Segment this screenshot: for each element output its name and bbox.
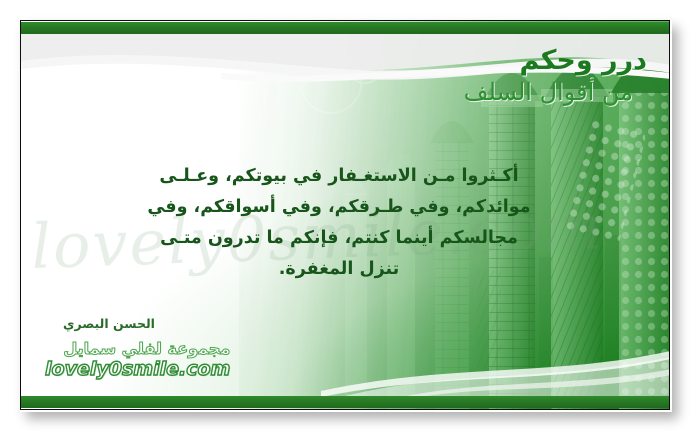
quote-attribution: الحسن البصري — [63, 316, 155, 331]
bottom-green-rule — [21, 396, 669, 408]
quote-line: أكـثروا مـن الاستغـفار في بيوتكم، وعـلـى — [49, 161, 629, 192]
top-green-rule — [21, 22, 669, 34]
page-title: درر وحكم — [347, 47, 647, 75]
brand-arabic-name: مجموعة لفلي سمايل — [45, 341, 230, 357]
quote-body: أكـثروا مـن الاستغـفار في بيوتكم، وعـلـى… — [49, 161, 629, 285]
image-canvas: lovely0smile.com درر وحكم من أقوال السلف… — [0, 0, 692, 432]
quote-line: تنزل المغفرة. — [49, 254, 629, 285]
quote-line: موائدكم، وفي طـرقكم، وفي أسواقكم، وفي — [49, 192, 629, 223]
quote-card: lovely0smile.com درر وحكم من أقوال السلف… — [20, 20, 670, 410]
brand-logo[interactable]: مجموعة لفلي سمايل lovely0smile.com — [45, 341, 230, 379]
page-subtitle: من أقوال السلف — [347, 79, 647, 105]
header-block: درر وحكم من أقوال السلف — [347, 47, 647, 106]
quote-line: مجالسكم أينما كنتم، فإنكم ما تدرون متـى — [49, 223, 629, 254]
brand-domain: lovely0smile.com — [45, 360, 230, 379]
